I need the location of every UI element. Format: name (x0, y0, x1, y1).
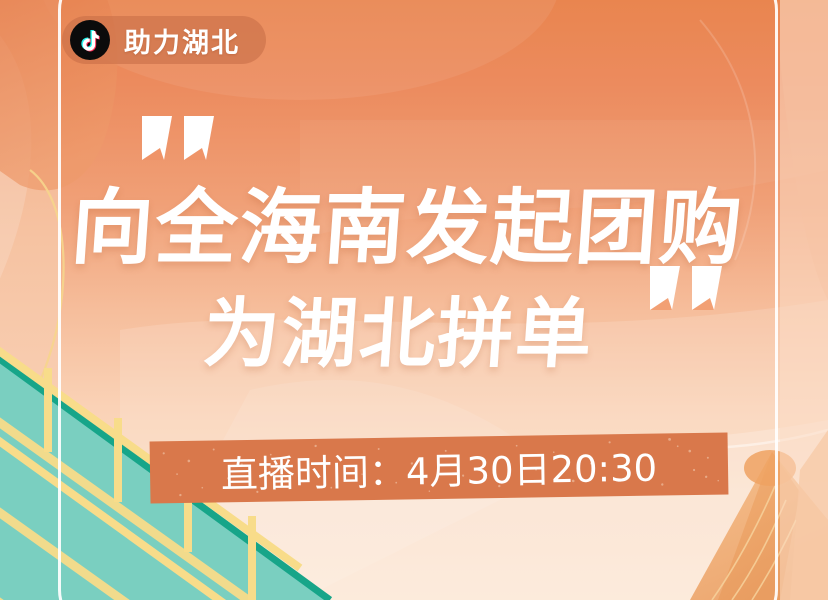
live-time-banner: 直播时间：4月30日20:30 (150, 432, 729, 503)
badge-label: 助力湖北 (124, 21, 240, 60)
live-time-text: 直播时间：4月30日20:30 (150, 432, 729, 503)
headline-line-1: 向全海南发起团购 (68, 161, 748, 280)
headline-line-2: 为湖北拼单 (200, 272, 598, 382)
promo-poster: 助力湖北 向全海南发起团购 为湖北拼单 (0, 0, 828, 600)
douyin-tiktok-logo-icon (70, 20, 110, 60)
douyin-badge: 助力湖北 (62, 16, 266, 64)
